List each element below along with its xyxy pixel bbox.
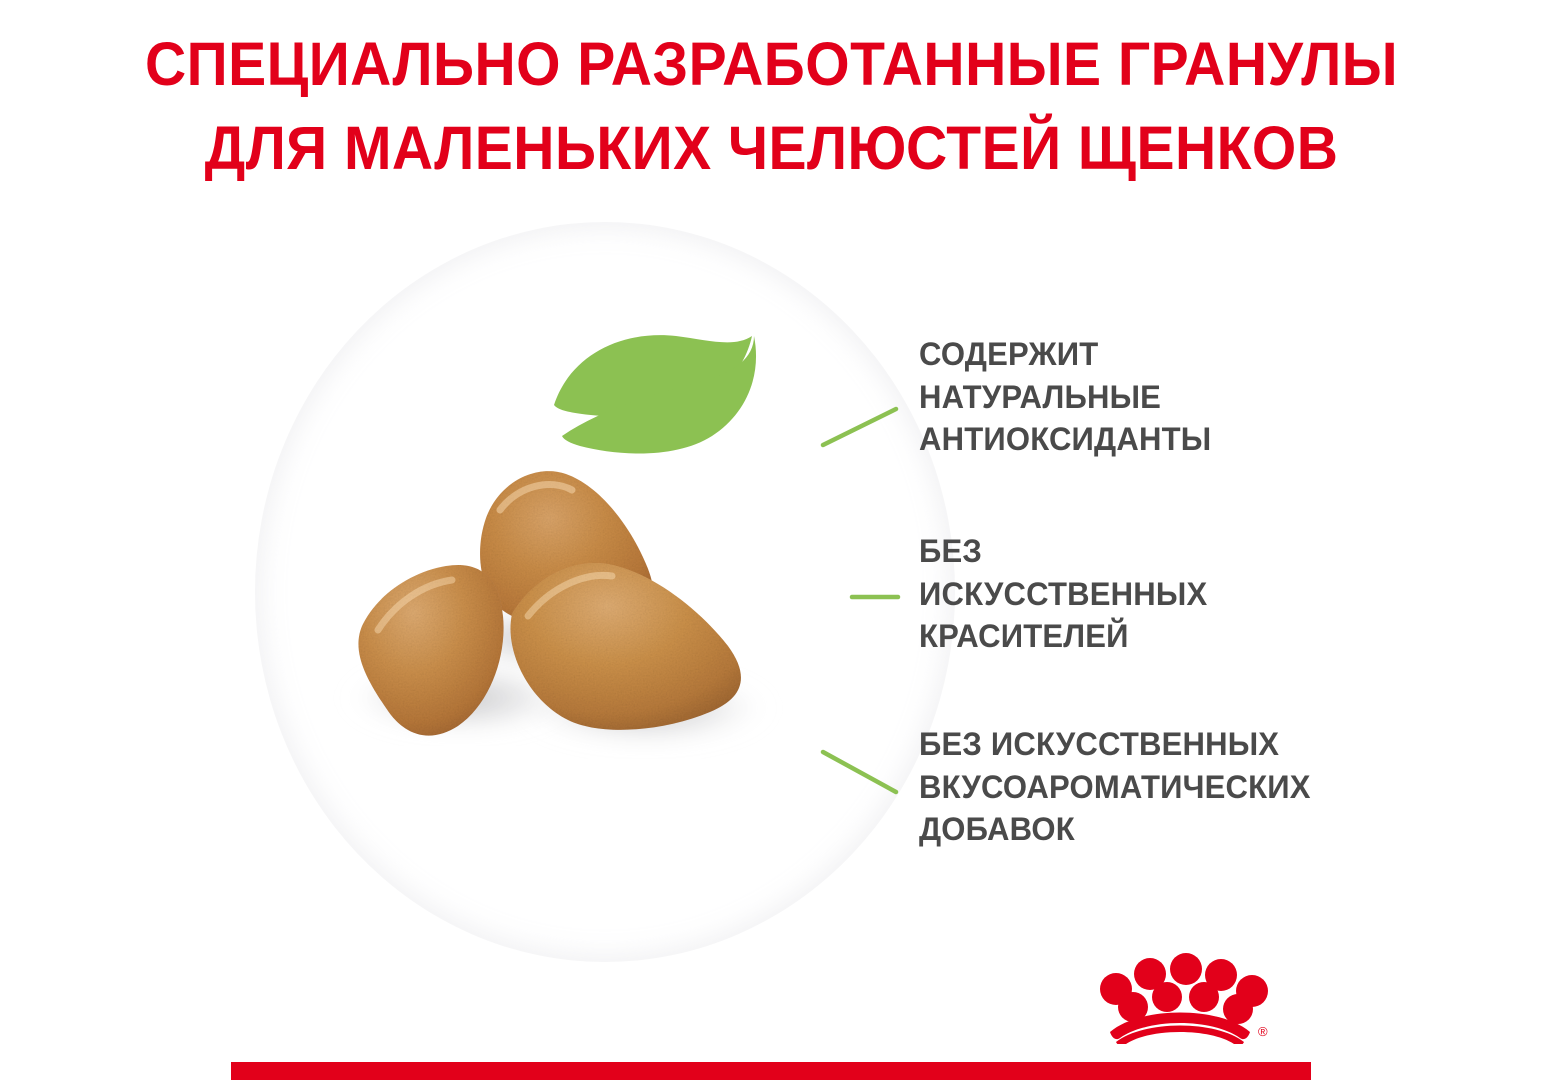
connector-line-3 [823, 752, 896, 792]
kibble-image [300, 440, 800, 780]
benefit-label-no-artificial-colors: БЕЗ ИСКУССТВЕННЫХ КРАСИТЕЛЕЙ [919, 530, 1307, 658]
green-leaf-icon [548, 310, 798, 480]
page-title: СПЕЦИАЛЬНО РАЗРАБОТАННЫЕ ГРАНУЛЫ ДЛЯ МАЛ… [50, 22, 1493, 190]
benefit-label-no-artificial-flavors: БЕЗ ИСКУССТВЕННЫХ ВКУСОАРОМАТИЧЕСКИХ ДОБ… [919, 723, 1307, 851]
promo-banner: СПЕЦИАЛЬНО РАЗРАБОТАННЫЕ ГРАНУЛЫ ДЛЯ МАЛ… [0, 0, 1543, 1080]
royal-canin-crown-logo: ® [1092, 948, 1268, 1044]
bottom-red-bar [231, 1062, 1311, 1080]
benefit-label-natural-antioxidants: СОДЕРЖИТ НАТУРАЛЬНЫЕ АНТИОКСИДАНТЫ [919, 333, 1307, 461]
connector-line-1 [823, 409, 896, 445]
registered-mark: ® [1258, 1024, 1268, 1039]
